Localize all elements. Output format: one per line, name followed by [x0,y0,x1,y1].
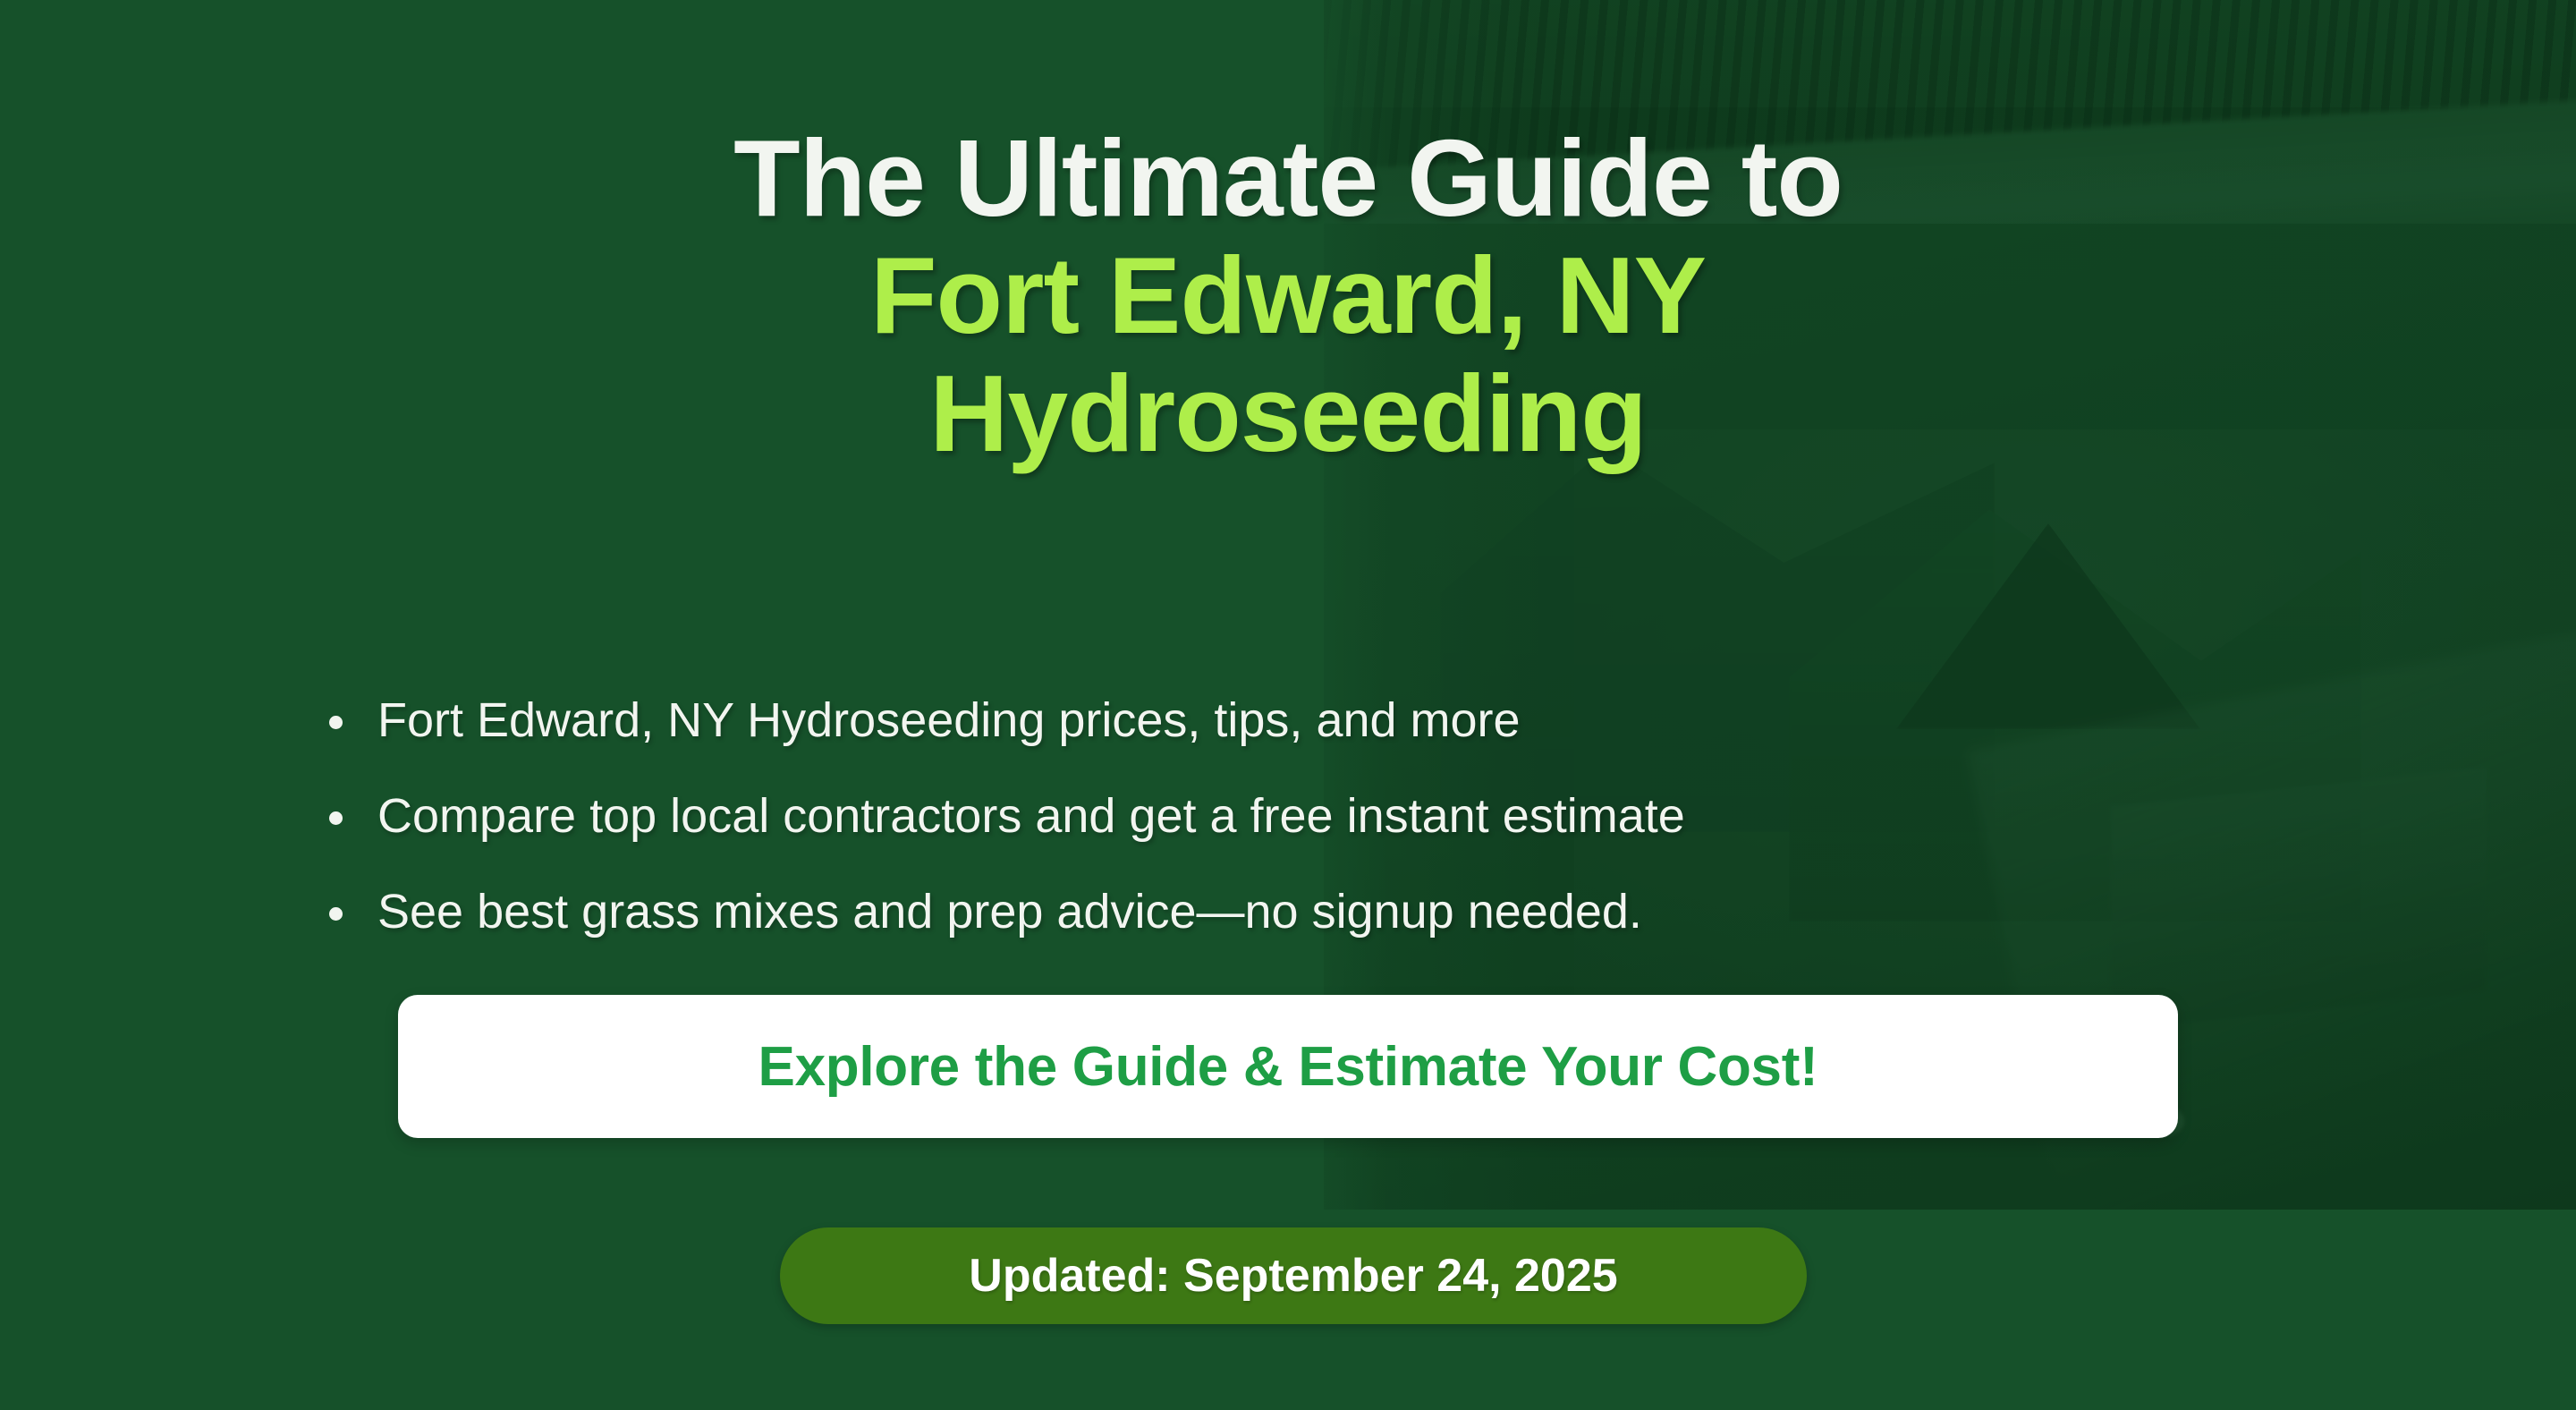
updated-date-badge: Updated: September 24, 2025 [780,1227,1807,1324]
explore-guide-button[interactable]: Explore the Guide & Estimate Your Cost! [398,995,2178,1138]
feature-bullet-list: Fort Edward, NY Hydroseeding prices, tip… [322,673,1685,960]
headline-accent-line-1: Fort Edward, NY [0,237,2576,355]
list-item: Compare top local contractors and get a … [377,769,1685,864]
headline-line-1: The Ultimate Guide to [733,117,1843,239]
list-item: Fort Edward, NY Hydroseeding prices, tip… [377,673,1685,769]
page-title: The Ultimate Guide to Fort Edward, NY Hy… [0,120,2576,473]
hero-banner: The Ultimate Guide to Fort Edward, NY Hy… [0,0,2576,1410]
headline-accent-line-2: Hydroseeding [0,355,2576,473]
hero-content: The Ultimate Guide to Fort Edward, NY Hy… [0,0,2576,1410]
list-item: See best grass mixes and prep advice—no … [377,864,1685,960]
